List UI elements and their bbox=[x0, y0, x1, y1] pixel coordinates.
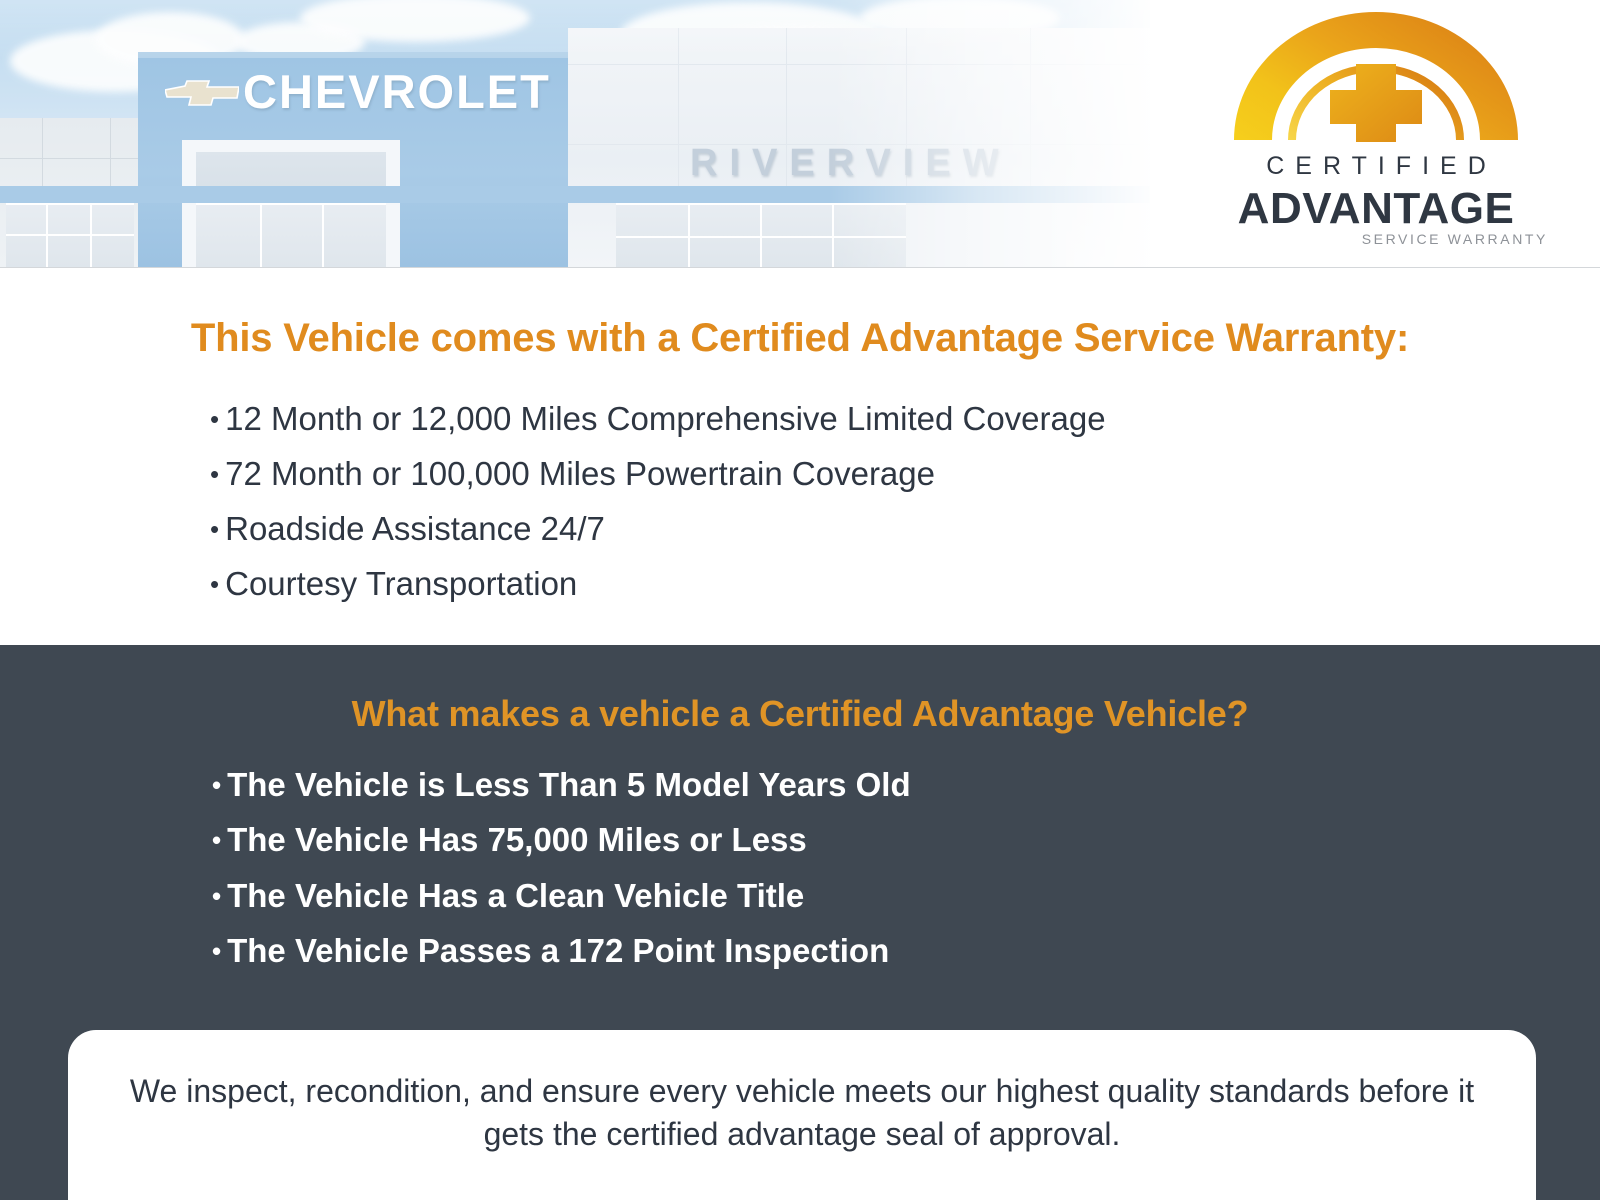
list-item-label: The Vehicle Has a Clean Vehicle Title bbox=[227, 877, 804, 914]
certified-advantage-flyer: CHEVROLET RIVERVIEW bbox=[0, 0, 1600, 1200]
certified-advantage-arc-plus-icon bbox=[1218, 12, 1534, 142]
list-item-label: Roadside Assistance 24/7 bbox=[225, 510, 605, 547]
list-item: •The Vehicle Passes a 172 Point Inspecti… bbox=[212, 923, 911, 978]
list-item: •The Vehicle Has a Clean Vehicle Title bbox=[212, 868, 911, 923]
list-item-label: Courtesy Transportation bbox=[225, 565, 577, 602]
bullet-icon: • bbox=[210, 514, 225, 544]
list-item: •12 Month or 12,000 Miles Comprehensive … bbox=[210, 391, 1106, 446]
bullet-icon: • bbox=[212, 881, 227, 911]
qualification-bullet-list: •The Vehicle is Less Than 5 Model Years … bbox=[212, 757, 911, 979]
bullet-icon: • bbox=[210, 459, 225, 489]
promise-card: We inspect, recondition, and ensure ever… bbox=[68, 1030, 1536, 1200]
logo-service-warranty-text: SERVICE WARRANTY bbox=[1200, 231, 1552, 247]
list-item: •Courtesy Transportation bbox=[210, 556, 1106, 611]
bullet-icon: • bbox=[212, 936, 227, 966]
logo-advantage-text: ADVANTAGE bbox=[1200, 184, 1552, 234]
list-item-label: The Vehicle is Less Than 5 Model Years O… bbox=[227, 766, 911, 803]
warranty-bullet-list: •12 Month or 12,000 Miles Comprehensive … bbox=[210, 391, 1106, 611]
list-item: •The Vehicle Has 75,000 Miles or Less bbox=[212, 812, 911, 867]
warranty-section: This Vehicle comes with a Certified Adva… bbox=[0, 268, 1600, 645]
photo-top-wash bbox=[0, 0, 1150, 267]
bullet-icon: • bbox=[210, 569, 225, 599]
logo-certified-text: CERTIFIED bbox=[1200, 152, 1552, 181]
list-item-label: 72 Month or 100,000 Miles Powertrain Cov… bbox=[225, 455, 935, 492]
bullet-icon: • bbox=[212, 825, 227, 855]
list-item: •The Vehicle is Less Than 5 Model Years … bbox=[212, 757, 911, 812]
list-item: •72 Month or 100,000 Miles Powertrain Co… bbox=[210, 446, 1106, 501]
promise-card-text: We inspect, recondition, and ensure ever… bbox=[128, 1070, 1476, 1156]
header-banner: CHEVROLET RIVERVIEW bbox=[0, 0, 1600, 268]
list-item: •Roadside Assistance 24/7 bbox=[210, 501, 1106, 556]
list-item-label: The Vehicle Has 75,000 Miles or Less bbox=[227, 821, 807, 858]
list-item-label: The Vehicle Passes a 172 Point Inspectio… bbox=[227, 932, 889, 969]
certified-advantage-logo: CERTIFIED ADVANTAGE SERVICE WARRANTY bbox=[1200, 12, 1552, 252]
list-item-label: 12 Month or 12,000 Miles Comprehensive L… bbox=[225, 400, 1105, 437]
dealership-photo: CHEVROLET RIVERVIEW bbox=[0, 0, 1150, 267]
bullet-icon: • bbox=[210, 404, 225, 434]
warranty-headline: This Vehicle comes with a Certified Adva… bbox=[0, 316, 1600, 361]
bullet-icon: • bbox=[212, 770, 227, 800]
qualification-heading: What makes a vehicle a Certified Advanta… bbox=[0, 693, 1600, 735]
